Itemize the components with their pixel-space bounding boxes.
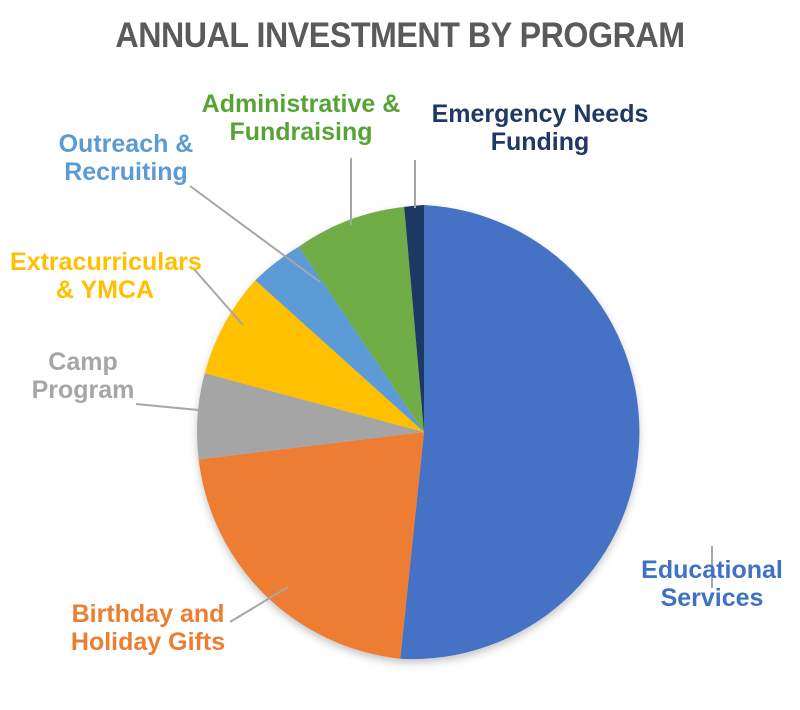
pie-label-educational-services: Educational Services [628,556,796,612]
pie-label-extracurriculars-ymca: Extracurriculars & YMCA [10,248,200,304]
pie-label-outreach-recruiting: Outreach & Recruiting [40,130,212,186]
pie-slices-group [197,205,639,659]
pie-label-administrative-fundraising: Administrative & Fundraising [190,90,412,146]
pie-label-birthday-holiday-gifts: Birthday and Holiday Gifts [58,600,238,656]
leader-line-outreach-recruiting [190,186,320,282]
pie-label-emergency-needs-funding: Emergency Needs Funding [424,100,656,156]
pie-label-camp-program: Camp Program [22,348,144,404]
leader-line-extracurriculars-ymca [193,268,243,325]
pie-slice-educational-services[interactable] [400,205,639,659]
pie-chart: ANNUAL INVESTMENT BY PROGRAM [0,0,800,710]
